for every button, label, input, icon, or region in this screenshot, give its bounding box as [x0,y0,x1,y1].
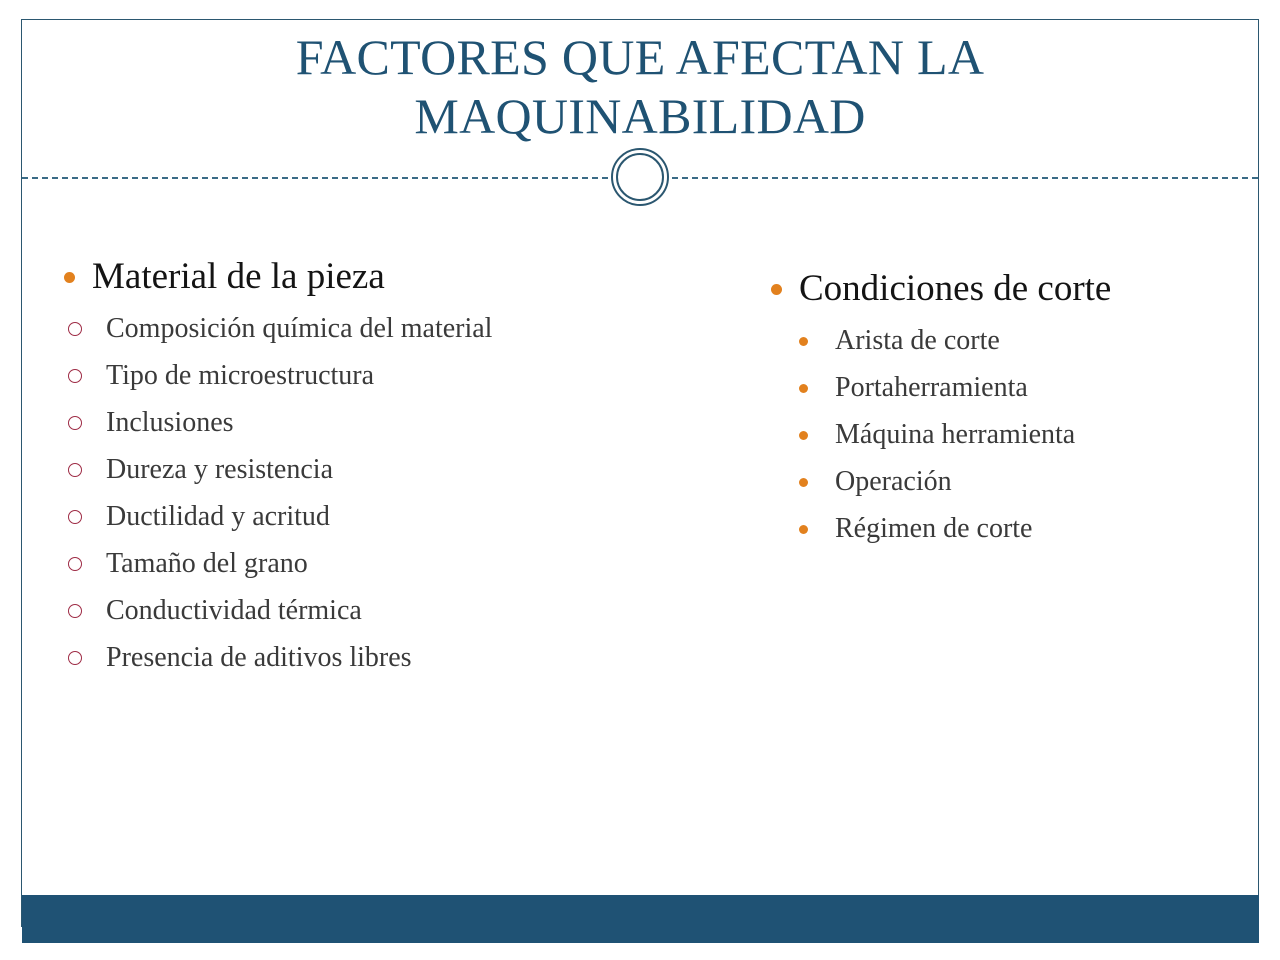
double-ring-circle-icon [611,148,669,206]
bullet-sublist-right: Arista de corte Portaherramienta Máquina… [757,327,1258,543]
list-item-label: Operación [835,466,952,497]
slide-body-content: Material de la pieza Composición química… [22,200,1258,890]
bullet-list-left: Material de la pieza Composición química… [50,255,757,672]
list-item: Presencia de aditivos libres [50,644,757,672]
presentation-slide: FACTORES QUE AFECTAN LA MAQUINABILIDAD M… [0,0,1280,960]
bullet-dot-icon [799,431,808,440]
bullet-ring-icon [68,369,82,383]
bullet-ring-icon [68,651,82,665]
bullet-sublist-left: Composición química del material Tipo de… [50,315,757,672]
bullet-dot-icon [799,337,808,346]
sublist-container: Composición química del material Tipo de… [50,315,757,672]
list-item: Operación [779,468,1258,496]
list-item-label: Material de la pieza [92,256,385,297]
slide-bottom-accent-bar [22,895,1259,943]
list-item: Ductilidad y acritud [50,503,757,531]
list-item-label: Ductilidad y acritud [106,501,330,532]
list-item-label: Régimen de corte [835,513,1032,544]
list-item: Máquina herramienta [779,421,1258,449]
list-item: Tipo de microestructura [50,362,757,390]
list-item-label: Arista de corte [835,325,1000,356]
list-item-heading: Material de la pieza [50,255,757,299]
sublist-container: Arista de corte Portaherramienta Máquina… [757,327,1258,543]
bullet-dot-icon [799,478,808,487]
list-item-label: Tipo de microestructura [106,360,374,391]
bullet-dot-icon [771,284,782,295]
list-item-label: Conductividad térmica [106,595,362,626]
bullet-dot-icon [799,525,808,534]
bullet-dot-icon [64,272,75,283]
content-column-left: Material de la pieza Composición química… [22,200,757,672]
list-item: Régimen de corte [779,515,1258,543]
list-item-label: Dureza y resistencia [106,454,333,485]
bullet-ring-icon [68,557,82,571]
slide-title-block: FACTORES QUE AFECTAN LA MAQUINABILIDAD [22,22,1258,152]
ring-inner-icon [616,153,664,201]
list-item: Portaherramienta [779,374,1258,402]
list-item-label: Composición química del material [106,313,492,344]
content-column-right: Condiciones de corte Arista de corte Por… [757,200,1258,543]
list-item: Composición química del material [50,315,757,343]
list-item: Tamaño del grano [50,550,757,578]
list-item-label: Inclusiones [106,407,234,438]
list-item: Arista de corte [779,327,1258,355]
list-item: Conductividad térmica [50,597,757,625]
list-item-label: Condiciones de corte [799,268,1111,309]
list-item-label: Presencia de aditivos libres [106,642,412,673]
list-item-label: Tamaño del grano [106,548,308,579]
list-item: Dureza y resistencia [50,456,757,484]
bullet-ring-icon [68,604,82,618]
list-item-label: Máquina herramienta [835,419,1075,450]
list-item: Inclusiones [50,409,757,437]
bullet-dot-icon [799,384,808,393]
list-item-label: Portaherramienta [835,372,1028,403]
bullet-ring-icon [68,416,82,430]
list-item-heading: Condiciones de corte [757,267,1258,311]
bullet-list-right: Condiciones de corte Arista de corte Por… [757,267,1258,543]
bullet-ring-icon [68,463,82,477]
bullet-ring-icon [68,510,82,524]
page-title: FACTORES QUE AFECTAN LA MAQUINABILIDAD [140,28,1140,146]
bullet-ring-icon [68,322,82,336]
